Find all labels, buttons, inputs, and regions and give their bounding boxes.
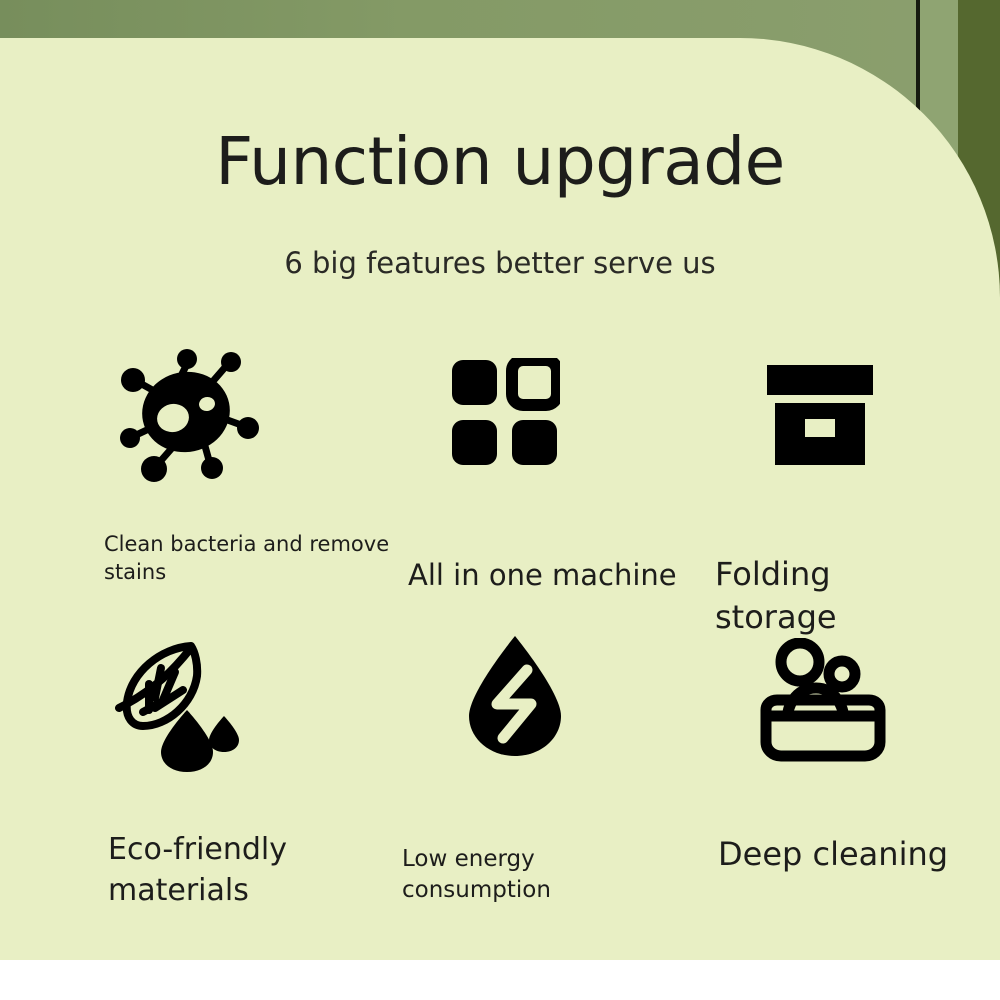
feature-card: Function upgrade 6 big features better s…	[0, 38, 1000, 960]
feature-label-all-in-one: All in one machine	[408, 556, 680, 595]
feature-row-top: Clean bacteria and remove stains All in …	[60, 338, 960, 628]
page-subtitle: 6 big features better serve us	[0, 246, 1000, 280]
droplet-bolt-icon	[390, 628, 680, 784]
grid-squares-icon	[390, 338, 680, 508]
feature-label-eco-friendly: Eco-friendly materials	[108, 830, 390, 911]
promo-banner: Function upgrade 6 big features better s…	[0, 0, 1000, 1000]
feature-item-low-energy[interactable]: Low energy consumption	[390, 628, 680, 898]
bacteria-icon	[60, 338, 390, 498]
feature-label-clean-bacteria: Clean bacteria and remove stains	[104, 530, 394, 587]
feature-card-content: Function upgrade 6 big features better s…	[0, 38, 1000, 960]
wash-basin-bubbles-icon	[680, 628, 960, 788]
feature-label-low-energy: Low energy consumption	[402, 844, 680, 906]
feature-item-all-in-one[interactable]: All in one machine	[390, 338, 680, 628]
feature-label-deep-cleaning: Deep cleaning	[718, 833, 960, 876]
feature-item-eco-friendly[interactable]: Eco-friendly materials	[60, 628, 390, 898]
feature-label-folding-storage: Folding storage	[715, 553, 960, 639]
feature-item-clean-bacteria[interactable]: Clean bacteria and remove stains	[60, 338, 390, 628]
page-title: Function upgrade	[0, 123, 1000, 200]
storage-box-icon	[680, 338, 960, 513]
feature-row-bottom: Eco-friendly materials Low energy consum…	[60, 628, 960, 898]
feature-grid: Clean bacteria and remove stains All in …	[60, 338, 960, 898]
feature-item-deep-cleaning[interactable]: Deep cleaning	[680, 628, 960, 898]
leaf-droplet-icon	[60, 628, 390, 778]
feature-item-folding-storage[interactable]: Folding storage	[680, 338, 960, 628]
